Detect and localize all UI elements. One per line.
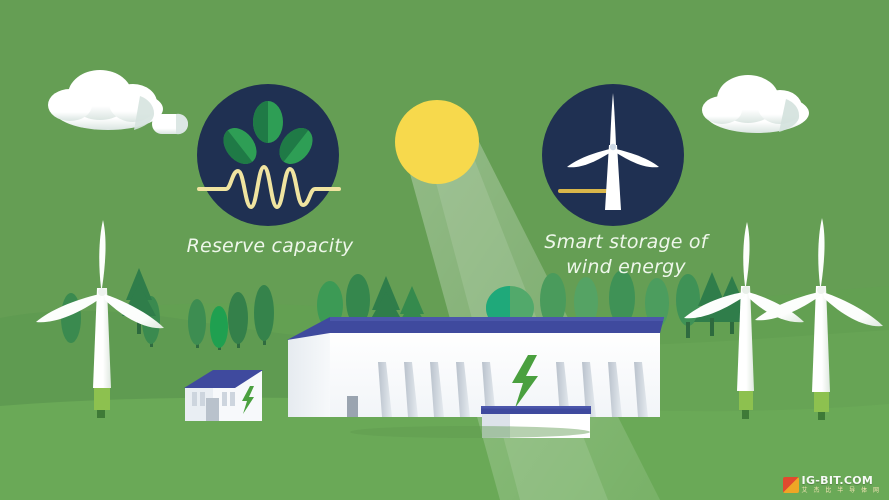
reserve-capacity-icon[interactable] bbox=[197, 84, 339, 226]
sun bbox=[395, 100, 479, 184]
gold-line-icon bbox=[558, 189, 612, 193]
storage-facility bbox=[287, 317, 664, 417]
watermark-subtitle: 艾 杰 比 半 导 体 网 bbox=[802, 488, 881, 494]
watermark-text: IG-BIT.COM 艾 杰 比 半 导 体 网 bbox=[802, 475, 881, 494]
facility-shadow bbox=[350, 426, 590, 438]
cloud-left-small bbox=[152, 114, 188, 134]
label-reserve-capacity: Reserve capacity bbox=[155, 234, 385, 259]
illustration-canvas: Reserve capacity Smart storage of wind e… bbox=[0, 0, 889, 500]
label-smart-storage: Smart storage of wind energy bbox=[500, 230, 752, 280]
ig-bit-logo-icon bbox=[783, 477, 799, 493]
watermark-title: IG-BIT.COM bbox=[802, 475, 881, 486]
energy-scene-illustration bbox=[0, 0, 889, 500]
watermark: IG-BIT.COM 艾 杰 比 半 导 体 网 bbox=[783, 475, 881, 494]
smart-storage-icon[interactable] bbox=[542, 84, 684, 226]
